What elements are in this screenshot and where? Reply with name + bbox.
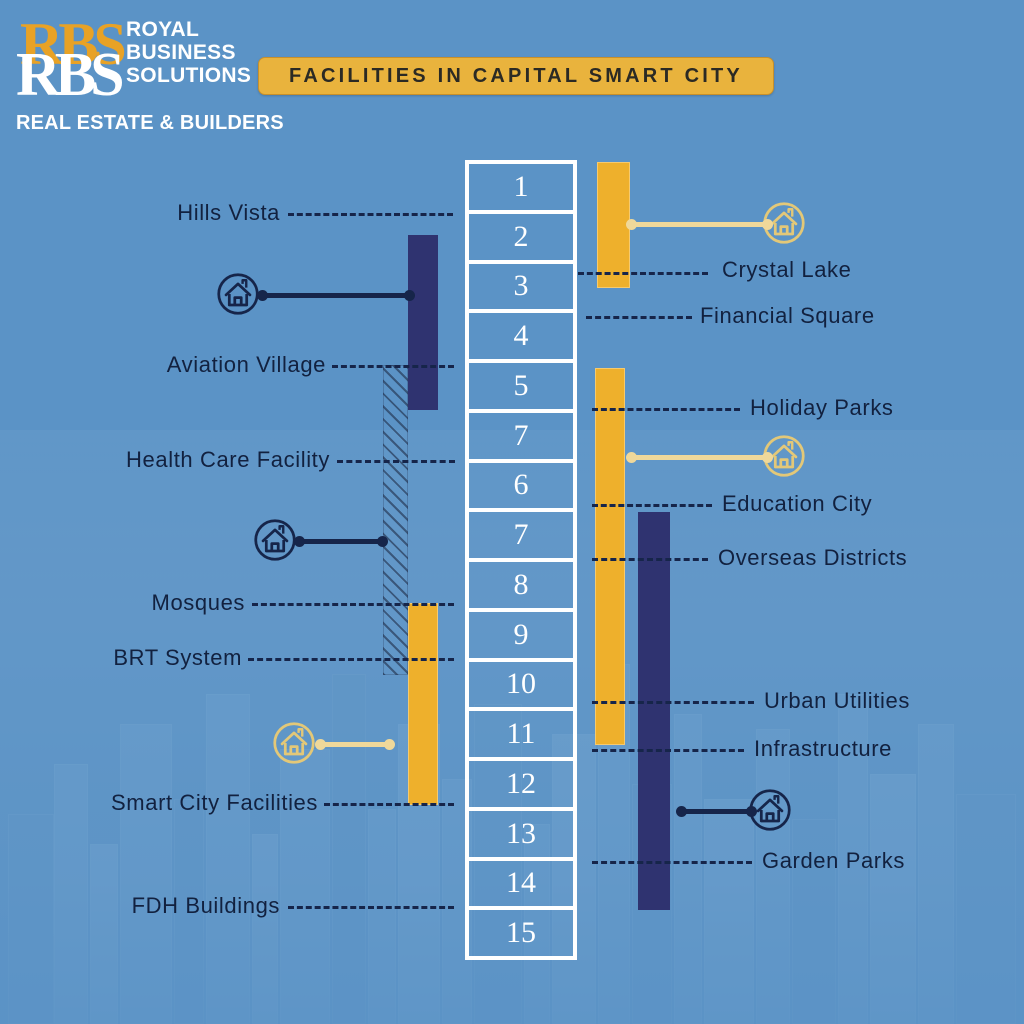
house-icon	[216, 272, 260, 316]
connector-dot	[315, 739, 326, 750]
connector-dot	[294, 536, 305, 547]
label-brt-system: BRT System	[40, 645, 242, 671]
ladder-rung: 2	[469, 214, 573, 264]
connector-dot	[257, 290, 268, 301]
leader-line-crystal-lake	[578, 272, 708, 275]
logo-monogram-white: RBS	[16, 44, 119, 106]
leader-line-garden-parks	[592, 861, 752, 864]
house-icon-group-lower-right	[748, 788, 792, 837]
label-fdh-buildings: FDH Buildings	[40, 893, 280, 919]
connector-dot	[384, 739, 395, 750]
left-gold-bar	[408, 603, 438, 805]
label-urban-utilities: Urban Utilities	[764, 688, 910, 714]
logo-word-line-1: ROYAL	[126, 18, 251, 41]
page-title: FACILITIES IN CAPITAL SMART CITY	[258, 57, 774, 95]
connector-line	[680, 809, 750, 814]
house-icon-group-middle-right	[762, 434, 806, 483]
ladder-rung: 12	[469, 761, 573, 811]
ladder-rung: 3	[469, 264, 573, 314]
leader-line-financial-square	[586, 316, 692, 319]
logo-word-line-3: SOLUTIONS	[126, 64, 251, 87]
connector-dot	[626, 452, 637, 463]
connector-line	[297, 539, 383, 544]
ladder-rung: 7	[469, 413, 573, 463]
leader-line-mosques	[252, 603, 454, 606]
ladder-rung: 4	[469, 313, 573, 363]
infographic-canvas: RBS RBS ROYAL BUSINESS SOLUTIONS REAL ES…	[0, 0, 1024, 1024]
connector-line	[630, 455, 766, 460]
logo-monogram: RBS RBS	[16, 14, 126, 106]
company-logo: RBS RBS ROYAL BUSINESS SOLUTIONS REAL ES…	[16, 14, 256, 134]
connector-dot	[746, 806, 757, 817]
ladder-rung: 5	[469, 363, 573, 413]
logo-wordmark: ROYAL BUSINESS SOLUTIONS	[126, 18, 251, 87]
ladder-rung: 8	[469, 562, 573, 612]
ladder-rung: 7	[469, 512, 573, 562]
house-icon-group-middle-left	[253, 518, 297, 567]
left-navy-bar	[408, 235, 438, 410]
label-overseas-districts: Overseas Districts	[718, 545, 907, 571]
right-gold-bar-lower	[595, 368, 625, 745]
label-mosques: Mosques	[40, 590, 245, 616]
leader-line-aviation-village	[332, 365, 454, 368]
ladder-rung: 9	[469, 612, 573, 662]
leader-line-health-care-facility	[337, 460, 455, 463]
house-icon	[272, 721, 316, 765]
logo-tagline: REAL ESTATE & BUILDERS	[16, 112, 284, 135]
connector-line	[260, 293, 410, 298]
connector-dot	[762, 219, 773, 230]
connector-dot	[676, 806, 687, 817]
ladder-rung: 1	[469, 164, 573, 214]
label-crystal-lake: Crystal Lake	[722, 257, 851, 283]
label-infrastructure: Infrastructure	[754, 736, 892, 762]
house-icon	[253, 518, 297, 562]
label-garden-parks: Garden Parks	[762, 848, 905, 874]
logo-word-line-2: BUSINESS	[126, 41, 251, 64]
connector-dot	[404, 290, 415, 301]
label-education-city: Education City	[722, 491, 872, 517]
leader-line-smart-city-facilities	[324, 803, 454, 806]
leader-line-fdh-buildings	[288, 906, 454, 909]
label-holiday-parks: Holiday Parks	[750, 395, 894, 421]
label-hills-vista: Hills Vista	[40, 200, 280, 226]
connector-line	[630, 222, 766, 227]
leader-line-urban-utilities	[592, 701, 754, 704]
leader-line-infrastructure	[592, 749, 744, 752]
house-icon-group-upper-right	[762, 201, 806, 250]
connector-line	[318, 742, 390, 747]
leader-line-overseas-districts	[592, 558, 708, 561]
ladder-rung: 14	[469, 861, 573, 911]
right-navy-bar	[638, 512, 670, 910]
label-financial-square: Financial Square	[700, 303, 875, 329]
house-icon-group-lower-left	[272, 721, 316, 770]
connector-dot	[626, 219, 637, 230]
label-aviation-village: Aviation Village	[40, 352, 326, 378]
leader-line-hills-vista	[288, 213, 453, 216]
ladder-rung: 11	[469, 711, 573, 761]
label-health-care-facility: Health Care Facility	[40, 447, 330, 473]
leader-line-holiday-parks	[592, 408, 740, 411]
leader-line-brt-system	[248, 658, 454, 661]
ladder-rung: 13	[469, 811, 573, 861]
numbered-ladder: 1 2 3 4 5 7 6 7 8 9 10 11 12 13 14 15	[465, 160, 577, 960]
left-hatched-bar	[383, 365, 408, 675]
ladder-rung: 10	[469, 662, 573, 712]
house-icon-group-upper-left	[216, 272, 260, 321]
ladder-rung: 6	[469, 463, 573, 513]
connector-dot	[377, 536, 388, 547]
connector-dot	[762, 452, 773, 463]
ladder-rung: 15	[469, 910, 573, 956]
label-smart-city-facilities: Smart City Facilities	[40, 790, 318, 816]
leader-line-education-city	[592, 504, 712, 507]
